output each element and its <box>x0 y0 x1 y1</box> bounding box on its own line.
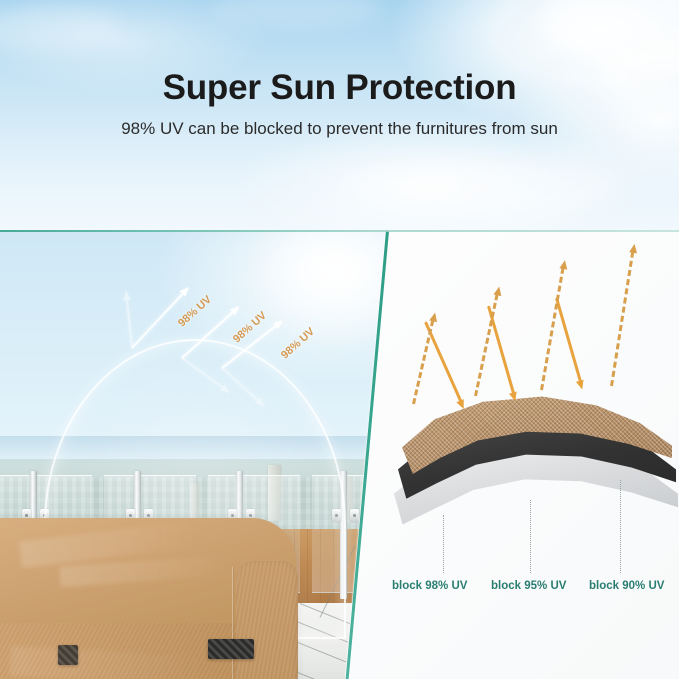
cover-seam <box>232 567 233 679</box>
page-title: Super Sun Protection <box>0 68 679 108</box>
furniture-foot <box>58 645 78 665</box>
block-label-90: block 90% UV <box>589 580 664 592</box>
leader-line <box>530 500 531 573</box>
cloud-wisp <box>350 160 630 216</box>
product-feature-image: Super Sun Protection 98% UV can be block… <box>0 0 679 679</box>
furniture-foot <box>208 639 254 659</box>
block-label-95: block 95% UV <box>491 580 566 592</box>
block-label-98: block 98% UV <box>392 580 467 592</box>
furniture-cover-side <box>236 561 298 679</box>
page-subtitle: 98% UV can be blocked to prevent the fur… <box>0 119 679 139</box>
left-photo-panel: 98% UV 98% UV 98% UV <box>0 231 400 679</box>
cloud-wisp <box>210 0 380 28</box>
leader-line <box>620 480 621 573</box>
leader-line <box>443 515 444 573</box>
railing-clamp <box>350 509 359 522</box>
cloud-wisp <box>0 6 120 50</box>
header-divider-line <box>0 230 679 232</box>
header-sky-banner <box>0 0 679 231</box>
